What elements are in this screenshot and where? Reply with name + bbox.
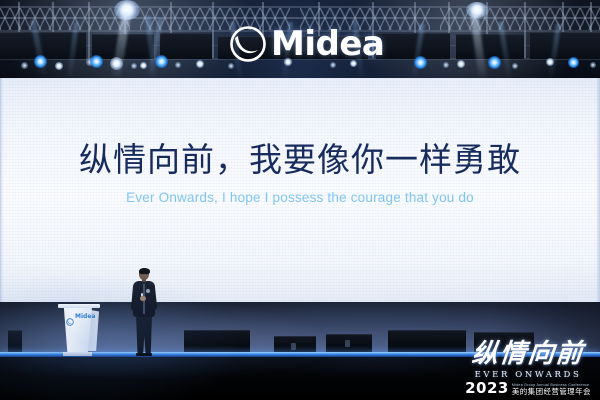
stage-light-fixture bbox=[457, 60, 465, 68]
speaker-shoes bbox=[136, 353, 152, 356]
led-screen: 纵情向前，我要像你一样勇敢 Ever Onwards, I hope I pos… bbox=[0, 78, 600, 304]
truss-webbing bbox=[440, 8, 600, 30]
stage-light-fixture bbox=[546, 58, 554, 66]
speaker-hand bbox=[140, 296, 146, 301]
podium-midea-logo: Midea bbox=[66, 313, 95, 321]
stage-monitor-wedge bbox=[388, 330, 466, 354]
speaker-legs bbox=[136, 315, 152, 355]
hanging-speaker-array bbox=[530, 32, 600, 59]
slide-subtitle: Ever Onwards, I hope I possess the coura… bbox=[0, 190, 600, 206]
stage-photo: Midea 纵情向前，我要像你一样勇敢 Ever Onwards, I hope… bbox=[0, 0, 600, 400]
stage-light-fixture bbox=[196, 60, 204, 68]
watermark-year: 2023 bbox=[465, 381, 509, 396]
event-watermark: 纵情向前 EVER ONWARDS 2023 Midea Group Annua… bbox=[460, 340, 596, 396]
stage-light-fixture bbox=[21, 62, 28, 69]
hanging-speaker-array bbox=[160, 33, 212, 59]
monitor-handle bbox=[345, 340, 350, 347]
watermark-meta: Midea Group Annual Business Conference 美… bbox=[512, 383, 591, 396]
stage-light-fixture bbox=[568, 57, 579, 68]
podium-top-surface bbox=[58, 304, 100, 308]
keynote-speaker bbox=[130, 268, 158, 358]
stage-light-fixture bbox=[175, 62, 181, 68]
stage-light-fixture bbox=[140, 62, 147, 69]
stage-light-fixture bbox=[488, 56, 501, 69]
midea-wordmark: Midea bbox=[271, 27, 384, 61]
truss-webbing bbox=[0, 8, 130, 30]
stage-light-fixture bbox=[590, 62, 596, 68]
stage-light-fixture bbox=[131, 63, 137, 69]
watermark-title-cn: 纵情向前 bbox=[459, 340, 598, 368]
watermark-conference-cn: 美的集团经营管理年会 bbox=[512, 387, 591, 396]
hanging-speaker-array bbox=[456, 34, 524, 59]
podium-lectern: Midea bbox=[58, 304, 100, 356]
stage-light-fixture bbox=[55, 62, 63, 70]
monitor-handle bbox=[291, 343, 296, 350]
stage-light-fixture bbox=[443, 62, 449, 68]
stage-light-fixture bbox=[155, 55, 168, 68]
podium-logo-wordmark: Midea bbox=[75, 314, 95, 320]
stage-monitor-wedge bbox=[326, 334, 372, 354]
watermark-conference-line: 2023 Midea Group Annual Business Confere… bbox=[460, 381, 596, 396]
slide-content: 纵情向前，我要像你一样勇敢 Ever Onwards, I hope I pos… bbox=[0, 140, 600, 206]
speaker-hair bbox=[139, 268, 150, 274]
stage-light-fixture bbox=[110, 57, 123, 70]
stage-light-fixture bbox=[34, 55, 47, 68]
hanging-speaker-array bbox=[376, 33, 450, 59]
stage-light-fixture bbox=[512, 63, 518, 69]
podium-base bbox=[63, 352, 92, 356]
stage-light-fixture bbox=[90, 55, 103, 68]
stage-light-fixture bbox=[414, 56, 427, 69]
stage-monitor-wedge bbox=[184, 330, 250, 354]
midea-header-logo: Midea bbox=[228, 24, 384, 64]
midea-circle-swoosh-icon bbox=[66, 313, 74, 321]
slide-title: 纵情向前，我要像你一样勇敢 bbox=[0, 140, 600, 180]
midea-circle-swoosh-icon bbox=[228, 24, 268, 64]
jacket-badge bbox=[146, 289, 150, 293]
